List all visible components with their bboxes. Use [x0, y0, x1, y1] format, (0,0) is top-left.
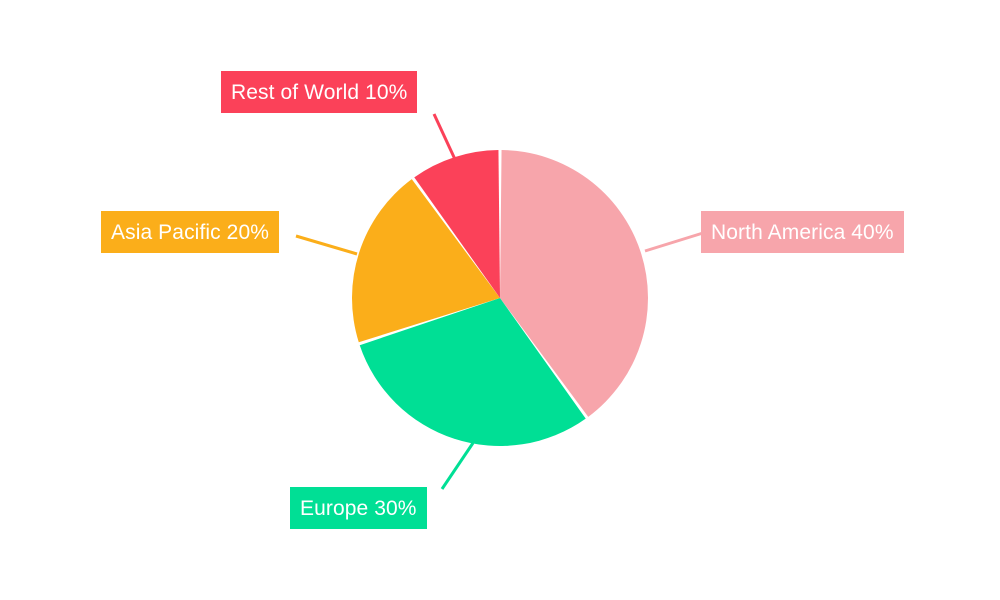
pie-label-north-america-text: North America 40% — [711, 222, 894, 243]
pie-label-asia-pacific[interactable]: Asia Pacific 20% — [101, 211, 279, 253]
pie-chart-canvas — [0, 0, 1000, 600]
pie-label-rest-of-world[interactable]: Rest of World 10% — [221, 71, 417, 113]
pie-label-north-america[interactable]: North America 40% — [701, 211, 904, 253]
leader-line-asia-pacific — [296, 236, 357, 254]
leader-line-north-america — [645, 233, 703, 251]
pie-chart: North America 40% Europe 30% Asia Pacifi… — [0, 0, 1000, 600]
pie-label-rest-of-world-text: Rest of World 10% — [231, 82, 407, 103]
pie-slices — [352, 150, 648, 446]
pie-label-asia-pacific-text: Asia Pacific 20% — [111, 222, 269, 243]
pie-label-europe[interactable]: Europe 30% — [290, 487, 427, 529]
leader-line-europe — [442, 443, 473, 489]
pie-label-europe-text: Europe 30% — [300, 498, 417, 519]
